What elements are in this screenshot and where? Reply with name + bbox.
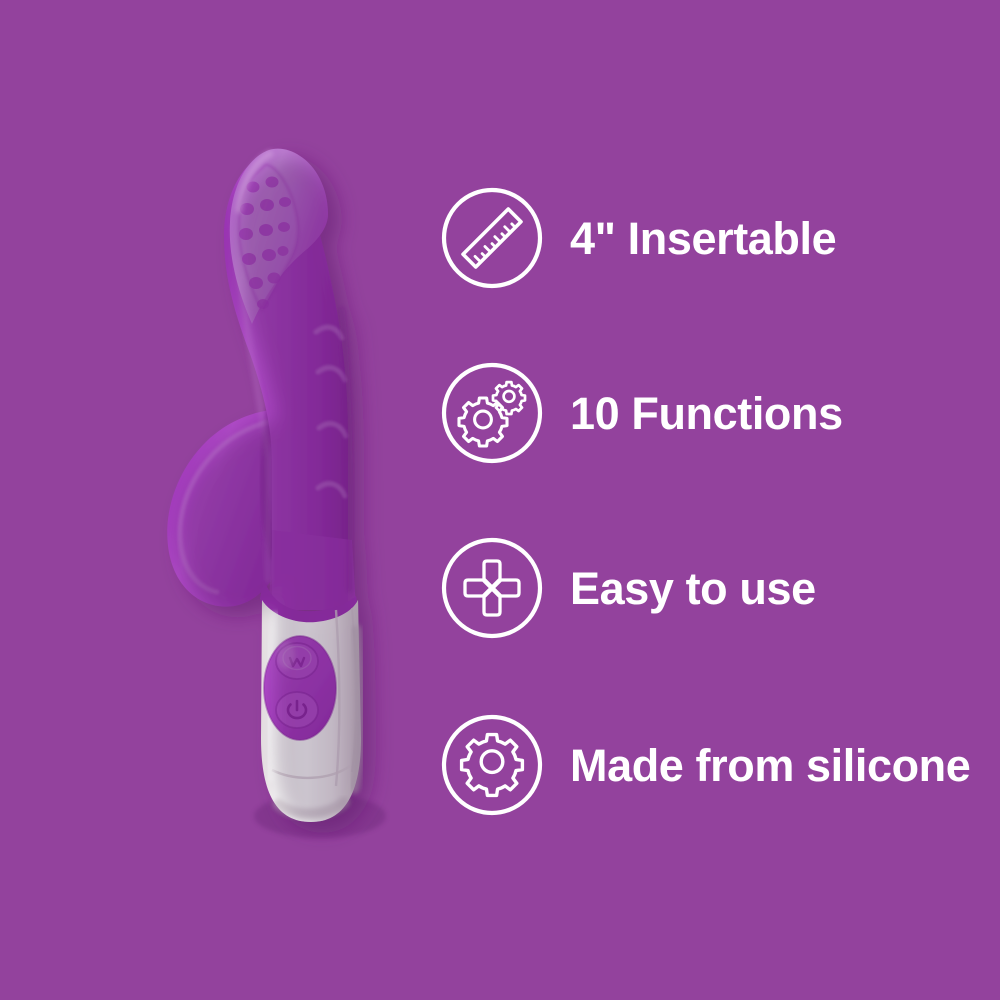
feature-row: 4" Insertable [440,186,990,290]
feature-label: Easy to use [570,566,816,611]
gear-small [493,382,525,414]
feature-list: 4" Insertable 10 [440,178,990,838]
gear-icon [440,713,544,817]
power-button[interactable] [276,692,318,728]
gear-large [459,398,507,446]
control-pad-highlight [277,641,295,669]
product-feature-graphic: 4" Insertable 10 [0,0,1000,1000]
dpad-left [465,580,491,596]
shaft-neck [268,530,356,610]
dpad-icon [440,536,544,640]
feature-label: 10 Functions [570,391,843,436]
feature-row: 10 Functions [440,361,990,465]
feature-label: 4" Insertable [570,216,836,261]
two-gears-icon [440,361,544,465]
product-image [120,110,460,870]
product-illustration [120,110,460,870]
feature-label: Made from silicone [570,743,970,788]
dpad-right [493,580,519,596]
ruler-icon [440,186,544,290]
feature-row: Made from silicone [440,713,990,817]
feature-row: Easy to use [440,536,990,640]
product-body [167,149,361,822]
